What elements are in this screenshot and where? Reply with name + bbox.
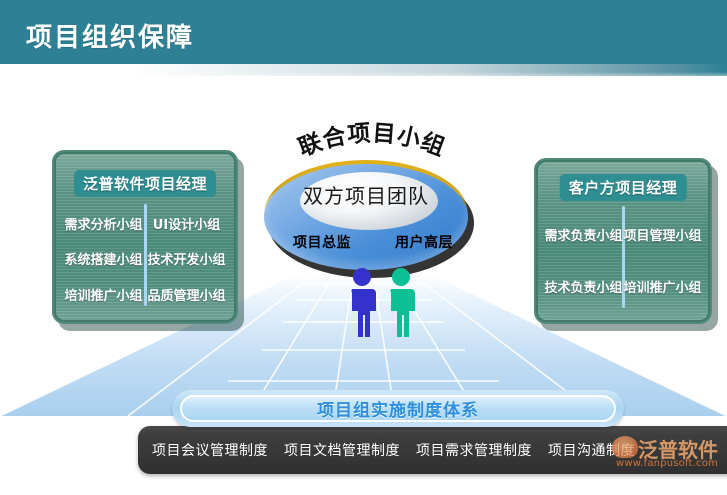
- page-title: 项目组织保障: [26, 17, 194, 54]
- header-bar: 项目组织保障: [0, 0, 727, 64]
- diagram-stage: 泛普软件项目经理 需求分析小组 UI设计小组 系统搭建小组 技术开发小组 培训推…: [0, 76, 727, 495]
- joint-team-label: 双方项目团队: [264, 180, 468, 209]
- implementation-system-pill[interactable]: 项目组实施制度体系: [172, 390, 624, 427]
- panel-right-item[interactable]: 需求负责小组: [544, 208, 623, 260]
- regulations-bar: 项目会议管理制度 项目文档管理制度 项目需求管理制度 项目沟通制度: [138, 426, 727, 474]
- panel-left-item[interactable]: 品质管理小组: [145, 277, 228, 312]
- slide-root: 项目组织保障: [0, 0, 727, 495]
- panel-right-items: 需求负责小组 项目管理小组 技术负责小组 培训推广小组: [544, 208, 702, 312]
- regulation-item[interactable]: 项目沟通制度: [548, 440, 635, 460]
- panel-left-item[interactable]: UI设计小组: [145, 206, 228, 241]
- people-figures: [346, 268, 422, 340]
- panel-right-title: 客户方项目经理: [560, 174, 687, 201]
- panel-left-item[interactable]: 技术开发小组: [145, 241, 228, 276]
- regulations-list: 项目会议管理制度 项目文档管理制度 项目需求管理制度 项目沟通制度: [152, 440, 635, 460]
- svg-text:联合项目小组: 联合项目小组: [295, 121, 449, 162]
- regulation-item[interactable]: 项目需求管理制度: [416, 440, 532, 460]
- pill-inner: 项目组实施制度体系: [180, 395, 616, 422]
- regulation-item[interactable]: 项目文档管理制度: [284, 440, 400, 460]
- panel-left-item[interactable]: 系统搭建小组: [62, 241, 145, 276]
- panel-left-title: 泛普软件项目经理: [74, 170, 216, 197]
- panel-left-item[interactable]: 需求分析小组: [62, 206, 145, 241]
- panel-vendor-project-manager[interactable]: 泛普软件项目经理 需求分析小组 UI设计小组 系统搭建小组 技术开发小组 培训推…: [52, 150, 238, 324]
- person-blue-icon: [351, 268, 376, 337]
- panel-right-item[interactable]: 培训推广小组: [623, 260, 702, 312]
- panel-right-item[interactable]: 技术负责小组: [544, 260, 623, 312]
- person-green-icon: [390, 268, 415, 337]
- panel-left-item[interactable]: 培训推广小组: [62, 277, 145, 312]
- panel-left-items: 需求分析小组 UI设计小组 系统搭建小组 技术开发小组 培训推广小组 品质管理小…: [62, 206, 228, 312]
- panel-right-item[interactable]: 项目管理小组: [623, 208, 702, 260]
- arc-label-text: 联合项目小组: [295, 121, 449, 162]
- role-project-director: 项目总监: [293, 232, 351, 252]
- role-client-executive: 用户高层: [395, 232, 453, 252]
- panel-client-project-manager[interactable]: 客户方项目经理 需求负责小组 项目管理小组 技术负责小组 培训推广小组: [534, 158, 712, 324]
- pill-label: 项目组实施制度体系: [317, 396, 479, 421]
- regulation-item[interactable]: 项目会议管理制度: [152, 440, 268, 460]
